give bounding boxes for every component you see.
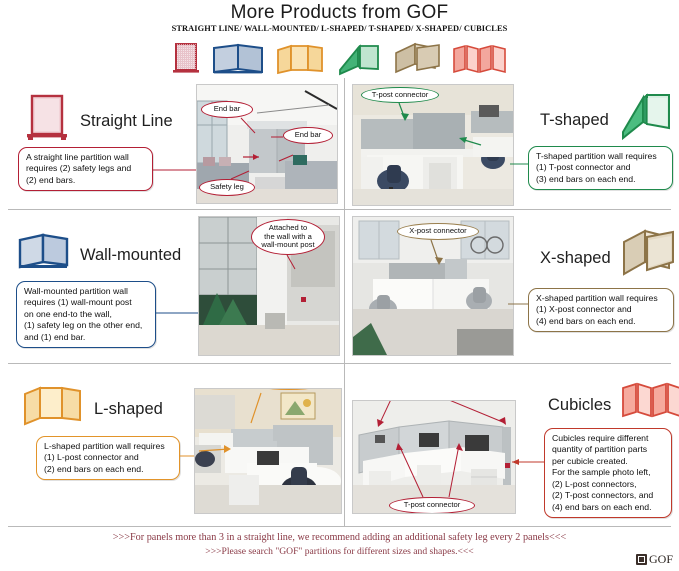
gof-logo-text: GOF (649, 552, 673, 567)
callout-t-shaped: T-shaped partition wall requires (1) T-p… (528, 146, 673, 190)
gof-logo-mark (636, 554, 647, 565)
footer-line-2: >>>Please search "GOF" partitions for di… (0, 545, 679, 559)
wall-mounted-icon (18, 232, 70, 279)
callout-x-shaped: X-shaped partition wall requires (1) X-p… (528, 288, 674, 332)
grid-divider-row3 (8, 526, 671, 527)
section-t-shaped-header: T-shaped (540, 92, 673, 149)
section-wall-mounted-header: Wall-mounted (18, 232, 181, 279)
section-straight-line-header: Straight Line (24, 93, 173, 150)
arrow-overlay-l (195, 389, 341, 513)
photo-wall-mounted-lobby: Attached to the wall with a wall-mount p… (198, 216, 340, 356)
callout-leader-t (510, 162, 530, 168)
section-title-l-shaped: L-shaped (94, 400, 163, 419)
callout-leader-x (508, 302, 530, 308)
callout-l-shaped: L-shaped partition wall requires (1) L-p… (36, 436, 180, 480)
arrow-overlay-x (353, 217, 513, 355)
swatch-cubicles (452, 42, 508, 76)
section-l-shaped-header: L-shaped (22, 382, 163, 437)
photo-l-shaped-workstation: L-post connector (194, 388, 342, 514)
section-cubicles-header: Cubicles (548, 380, 679, 431)
product-swatch-strip (0, 36, 679, 76)
footer: >>>For panels more than 3 in a straight … (0, 530, 679, 560)
callout-wall-mounted: Wall-mounted partition wall requires (1)… (16, 281, 156, 348)
swatch-wall-mounted (212, 42, 264, 76)
arrow-overlay-wall (199, 217, 339, 355)
footer-line-1: >>>For panels more than 3 in a straight … (0, 530, 679, 545)
page-title: More Products from GOF (0, 2, 679, 24)
grid-divider-vertical (344, 78, 345, 526)
section-title-cubicles: Cubicles (548, 396, 611, 415)
swatch-t-shaped (336, 42, 382, 76)
straight-line-icon (24, 93, 70, 150)
swatch-x-shaped (393, 42, 441, 76)
section-title-t-shaped: T-shaped (540, 111, 609, 130)
gof-logo: GOF (636, 552, 673, 567)
section-title-wall-mounted: Wall-mounted (80, 246, 181, 265)
section-x-shaped-header: X-shaped (540, 228, 677, 289)
arrow-overlay-cubicles (353, 401, 515, 513)
cubicles-icon (621, 380, 679, 431)
section-title-x-shaped: X-shaped (540, 249, 611, 268)
section-title-straight-line: Straight Line (80, 112, 173, 131)
grid-divider-row1 (8, 209, 671, 210)
photo-t-shaped-office: T-post connector (352, 84, 514, 206)
arrow-overlay-straight (197, 85, 337, 203)
swatch-straight-line (171, 42, 201, 76)
arrow-overlay-t (353, 85, 513, 205)
callout-cubicles: Cubicles require different quantity of p… (544, 428, 672, 518)
grid-divider-row2 (8, 363, 671, 364)
photo-cubicles-workstations: L-post connector T-post connector (352, 400, 516, 514)
callout-leader-wall (155, 311, 199, 317)
callout-leader-cubicles (512, 460, 546, 466)
t-shaped-icon (619, 92, 673, 149)
x-shaped-icon (621, 228, 677, 289)
photo-x-shaped-open-office: X-post connector (352, 216, 514, 356)
photo-straight-line-living-room: End bar End bar Safety leg (196, 84, 338, 204)
callout-straight-line: A straight line partition wall requires … (18, 147, 153, 191)
swatch-l-shaped (275, 42, 325, 76)
l-shaped-icon (22, 382, 84, 437)
page-subtitle: STRAIGHT LINE/ WALL-MOUNTED/ L-SHAPED/ T… (0, 24, 679, 33)
callout-leader-straight (152, 168, 197, 174)
